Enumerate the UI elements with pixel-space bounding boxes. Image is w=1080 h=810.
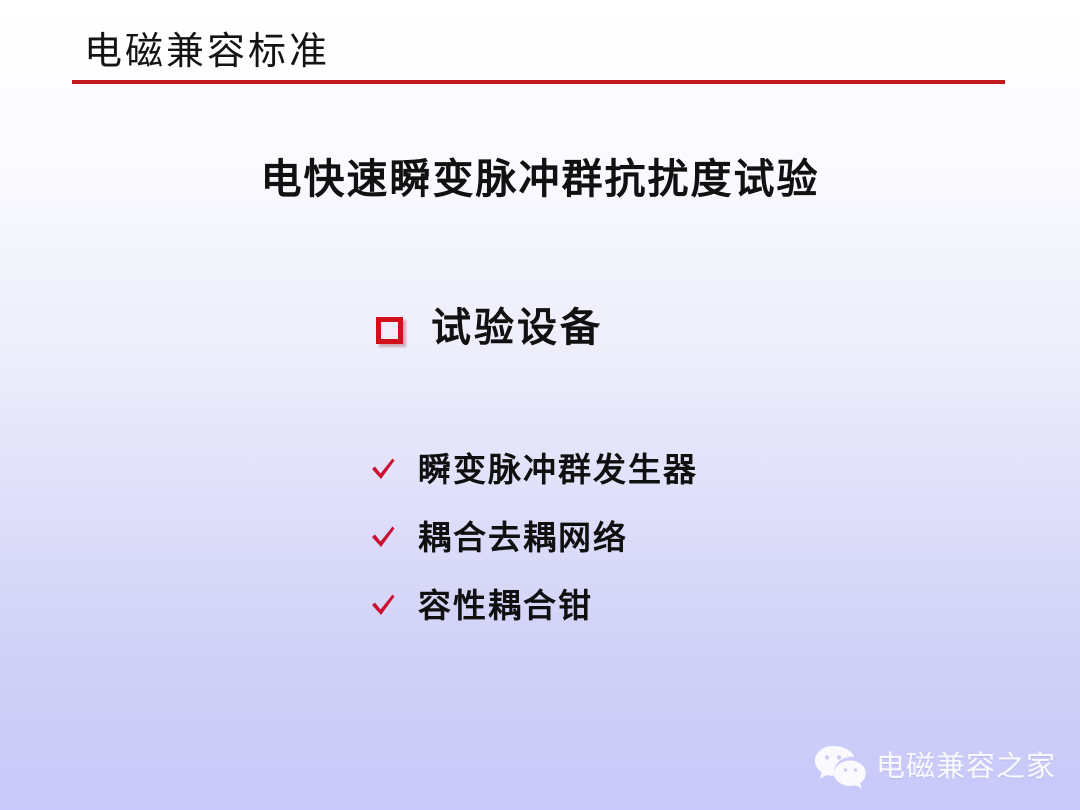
slide-title: 电快速瞬变脉冲群抗扰度试验 (0, 152, 1080, 206)
slide-header: 电磁兼容标准 (72, 28, 1012, 84)
level2-bullet-label: 容性耦合钳 (418, 586, 593, 626)
level2-bullet-row: 耦合去耦网络 (370, 518, 930, 558)
header-divider-rule (72, 80, 1005, 84)
level2-bullet-label: 瞬变脉冲群发生器 (418, 450, 698, 490)
red-check-icon (370, 591, 396, 619)
watermark-label: 电磁兼容之家 (876, 749, 1056, 783)
watermark: 电磁兼容之家 (814, 744, 1056, 788)
level1-bullet-row: 试验设备 (376, 304, 603, 352)
level2-bullet-row: 瞬变脉冲群发生器 (370, 450, 930, 490)
red-check-icon (370, 455, 396, 483)
level2-bullet-list: 瞬变脉冲群发生器 耦合去耦网络 容性耦合钳 (370, 450, 930, 654)
presentation-slide: 电磁兼容标准 电快速瞬变脉冲群抗扰度试验 试验设备 瞬变脉冲群发生器 耦合去耦网… (0, 0, 1080, 810)
header-title: 电磁兼容标准 (72, 28, 1012, 74)
red-square-bullet-icon (376, 317, 403, 344)
level2-bullet-row: 容性耦合钳 (370, 586, 930, 626)
level1-bullet-label: 试验设备 (431, 304, 603, 352)
red-check-icon (370, 523, 396, 551)
level2-bullet-label: 耦合去耦网络 (418, 518, 628, 558)
wechat-logo-icon (814, 744, 866, 788)
